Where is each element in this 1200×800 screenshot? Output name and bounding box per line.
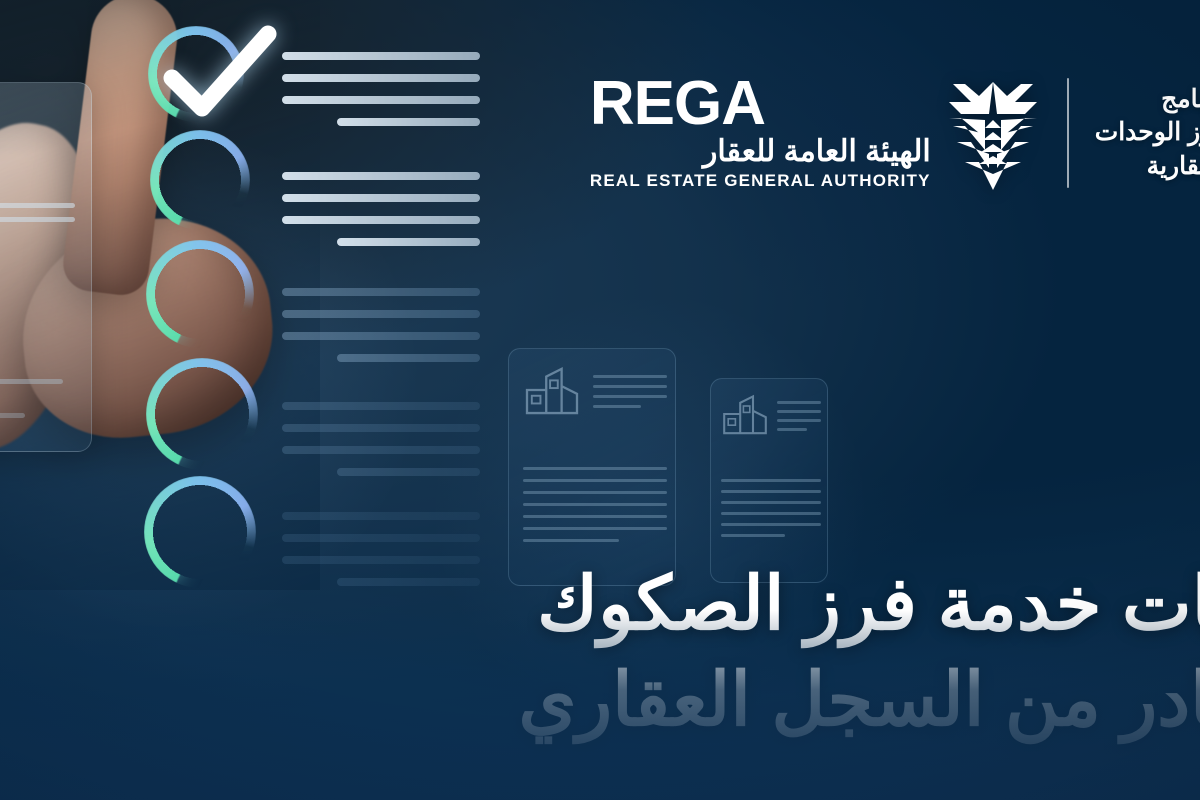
- rega-palm-shield-emblem-icon: [945, 72, 1041, 194]
- header-lockup: برنامج فرز الوحدات العقارية: [590, 72, 1200, 194]
- document-card-2: [710, 378, 828, 583]
- text-line-group-1: [282, 52, 480, 140]
- house-icon: [721, 393, 769, 435]
- rega-name-en: REGA: [590, 75, 931, 132]
- check-icon: [160, 20, 280, 130]
- headline: طلبات خدمة فرز الصكوك الصادر من السجل ال…: [0, 556, 1200, 748]
- rega-logo[interactable]: REGA الهيئة العامة للعقار REAL ESTATE GE…: [590, 72, 1041, 194]
- banner-canvas: برنامج فرز الوحدات العقارية: [0, 0, 1200, 800]
- text-line-group-2: [282, 172, 480, 260]
- progress-ring-2: [150, 130, 250, 230]
- header-divider: [1067, 78, 1069, 188]
- text-line-group-4: [282, 402, 480, 490]
- progress-ring-4: [146, 358, 258, 470]
- rega-tagline-en: REAL ESTATE GENERAL AUTHORITY: [590, 171, 931, 191]
- house-icon: [523, 365, 581, 415]
- rega-name-ar: الهيئة العامة للعقار: [590, 135, 931, 168]
- program-name: برنامج فرز الوحدات العقارية: [1095, 83, 1200, 184]
- document-card-1: [508, 348, 676, 586]
- progress-ring-3: [146, 240, 254, 348]
- rega-wordmark: REGA الهيئة العامة للعقار REAL ESTATE GE…: [590, 75, 931, 190]
- text-line-group-3: [282, 288, 480, 376]
